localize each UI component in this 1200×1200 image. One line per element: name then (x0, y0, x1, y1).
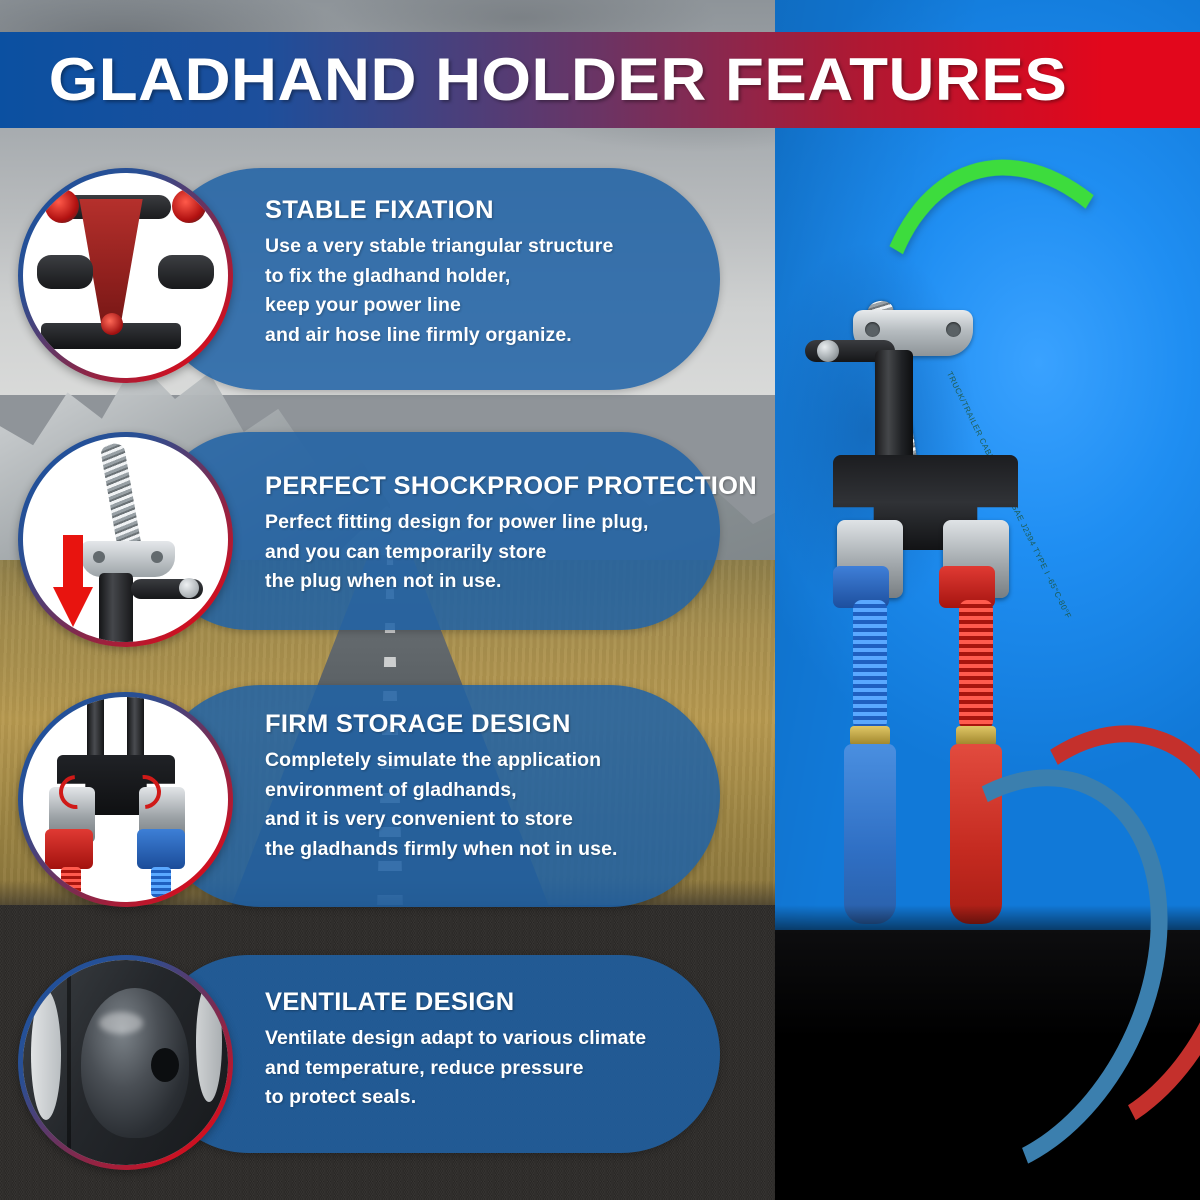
page-title: GLADHAND HOLDER FEATURES (0, 50, 1067, 110)
holder-knob-right (172, 189, 206, 223)
housing-highlight-left (31, 990, 61, 1120)
housing-highlight-right (196, 982, 222, 1102)
dome-gloss-highlight (99, 1012, 143, 1034)
feature-text-2: PERFECT SHOCKPROOF PROTECTION Perfect fi… (265, 472, 747, 597)
brass-fitting-blue (850, 726, 890, 746)
holder-leg-right (158, 255, 214, 289)
feature-line-3-0: Completely simulate the application (265, 746, 618, 776)
gladhand-coupler-blue (837, 520, 903, 598)
thumbnail-image-3 (23, 697, 228, 902)
feature-title-4: VENTILATE DESIGN (265, 988, 654, 1017)
hose-nipple-blue (151, 867, 171, 897)
feature-line-4-2: to protect seals. (265, 1083, 646, 1113)
feature-line-3-1: environment of gladhands, (265, 776, 618, 806)
red-down-arrow-icon (53, 535, 93, 627)
feature-text-1: STABLE FIXATION Use a very stable triang… (265, 196, 613, 351)
arm-bolt (817, 340, 839, 362)
holder-leg-left (37, 255, 93, 289)
feature-text-3: FIRM STORAGE DESIGN Completely simulate … (265, 710, 618, 865)
feature-line-3-3: the gladhands firmly when not in use. (265, 835, 618, 865)
feature-line-2-0: Perfect fitting design for power line pl… (265, 508, 747, 538)
holder-knob-left (45, 189, 79, 223)
arrow-head (53, 587, 93, 627)
arrow-shaft (63, 535, 83, 591)
hose-grip-blue (853, 600, 887, 730)
vent-hole (151, 1048, 179, 1082)
thumbnail-image-1 (23, 173, 228, 378)
spring-coil (100, 442, 143, 554)
clamp-hole-right-thumb (151, 551, 163, 563)
thumbnail-image-4 (23, 960, 228, 1165)
header-banner: GLADHAND HOLDER FEATURES (0, 32, 1200, 128)
clamp-plate-thumb (81, 541, 175, 577)
infographic-root: TRUCK/TRAILER CABLE FOR ABS SAE J2394 TY… (0, 0, 1200, 1200)
feature-thumbnail-2 (18, 432, 233, 647)
feature-line-3-2: and it is very convenient to store (265, 805, 618, 835)
feature-line-2-2: the plug when not in use. (265, 567, 747, 597)
feature-line-4-1: and temperature, reduce pressure (265, 1054, 646, 1084)
hose-grip-red (959, 600, 993, 730)
feature-title-3: FIRM STORAGE DESIGN (265, 710, 625, 739)
feature-thumbnail-3 (18, 692, 233, 907)
thumbnail-image-2 (23, 437, 228, 642)
gladhand-cap-blue-thumb (137, 829, 185, 869)
gladhand-coupler-red (943, 520, 1009, 598)
housing-seam (67, 960, 71, 1165)
gladhand-cap-red-thumb (45, 829, 93, 869)
feature-title-2: PERFECT SHOCKPROOF PROTECTION (265, 472, 757, 501)
feature-line-1-0: Use a very stable triangular structure (265, 232, 613, 262)
clamp-hole-left (865, 322, 880, 337)
feature-line-2-1: and you can temporarily store (265, 538, 747, 568)
feature-thumbnail-1 (18, 168, 233, 383)
feature-line-1-2: keep your power line (265, 291, 613, 321)
feature-line-1-3: and air hose line firmly organize. (265, 321, 613, 351)
hose-nipple-red (61, 867, 81, 897)
plug-body (99, 573, 133, 642)
holder-base-bolt (101, 313, 123, 335)
feature-thumbnail-4 (18, 955, 233, 1170)
feature-line-1-1: to fix the gladhand holder, (265, 262, 613, 292)
clamp-hole-left-thumb (93, 551, 105, 563)
side-arm-bolt (179, 578, 199, 598)
feature-line-4-0: Ventilate design adapt to various climat… (265, 1024, 646, 1054)
feature-text-4: VENTILATE DESIGN Ventilate design adapt … (265, 988, 646, 1113)
clamp-hole-right (946, 322, 961, 337)
feature-title-1: STABLE FIXATION (265, 196, 620, 225)
product-photo-panel: TRUCK/TRAILER CABLE FOR ABS SAE J2394 TY… (775, 0, 1200, 1200)
brass-fitting-red (956, 726, 996, 746)
